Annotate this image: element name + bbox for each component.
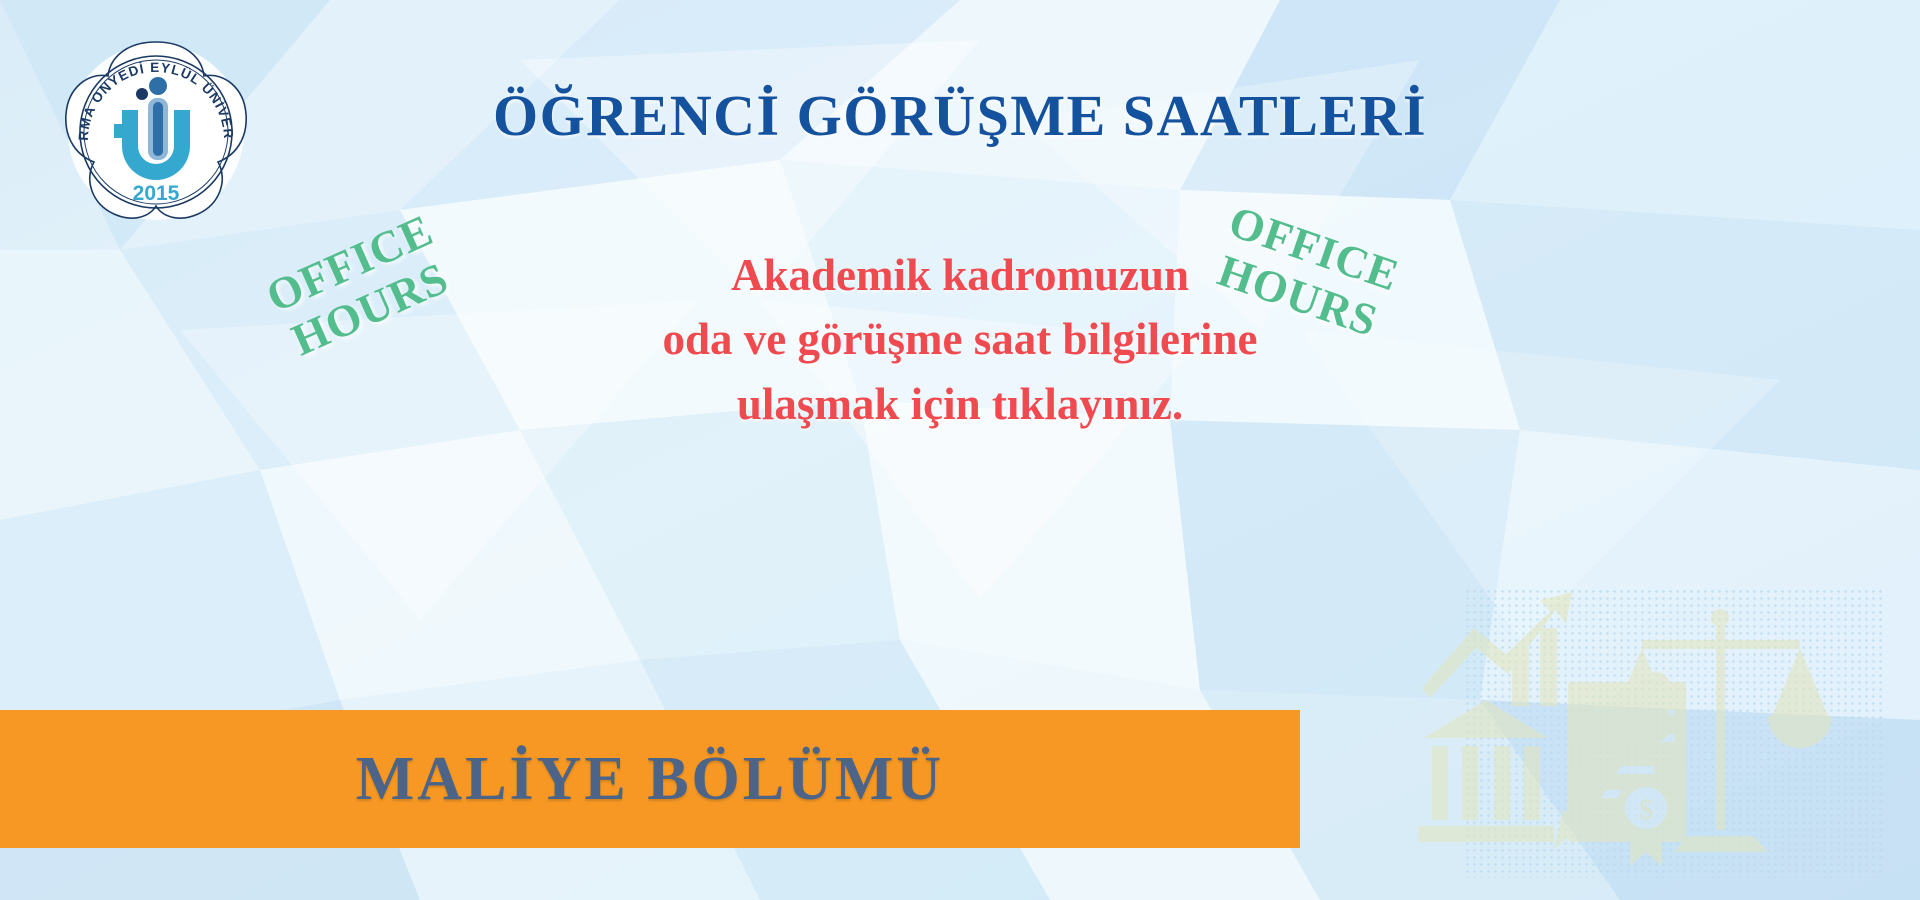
growth-chart-icon <box>1422 592 1572 706</box>
finance-icons-watermark: $ <box>1416 570 1856 870</box>
seal-year: 2015 <box>133 182 180 205</box>
lead-line-1: Akademik kadromuzun <box>550 243 1370 307</box>
lead-line-2: oda ve görüşme saat bilgilerine <box>550 307 1370 371</box>
page-title: ÖĞRENCİ GÖRÜŞME SAATLERİ <box>0 82 1920 149</box>
bank-building-icon <box>1418 700 1554 842</box>
department-name: MALİYE BÖLÜMÜ <box>356 744 944 815</box>
svg-text:$: $ <box>1639 795 1653 826</box>
lead-line-3: ulaşmak için tıklayınız. <box>550 372 1370 436</box>
department-banner: MALİYE BÖLÜMÜ <box>0 710 1300 848</box>
lead-paragraph[interactable]: Akademik kadromuzun oda ve görüşme saat … <box>550 243 1370 436</box>
poster-canvas: $ <box>0 0 1920 900</box>
